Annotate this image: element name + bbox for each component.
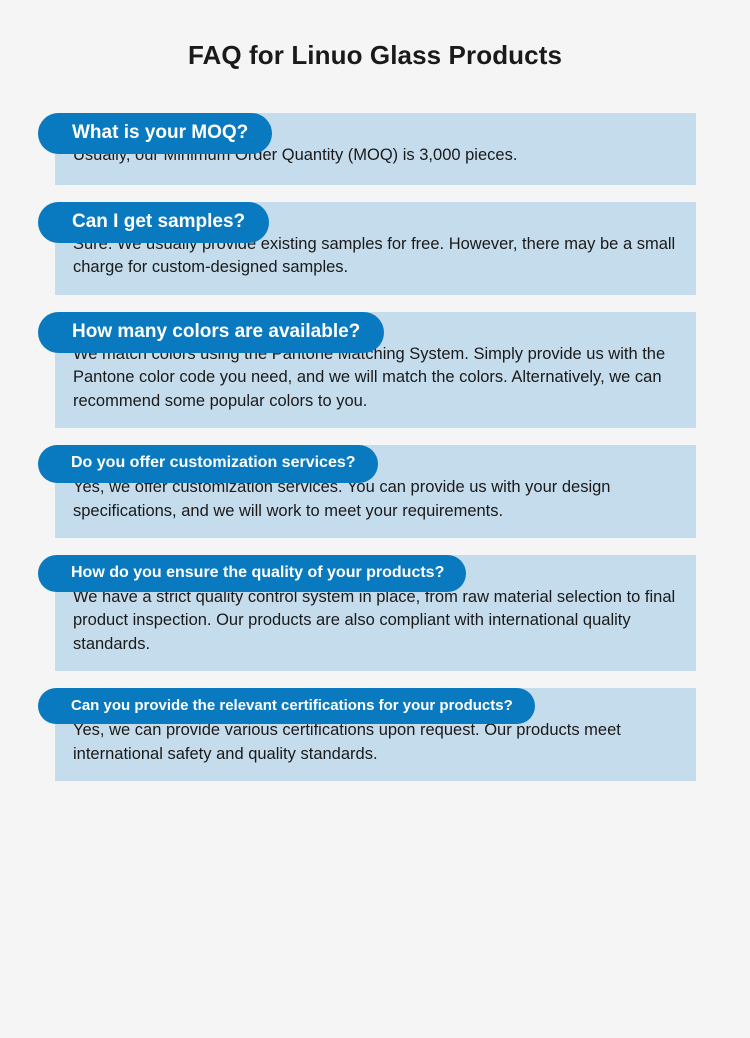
faq-answer-text-4: Yes, we offer customization services. Yo… [73, 476, 678, 523]
faq-answer-text-6: Yes, we can provide various certificatio… [73, 719, 678, 766]
faq-item: How many colors are available? We match … [0, 312, 750, 428]
faq-item: Can I get samples? Sure. We usually prov… [0, 202, 750, 295]
faq-item: Can you provide the relevant certificati… [0, 688, 750, 781]
faq-question-3[interactable]: How many colors are available? [38, 312, 384, 353]
faq-question-1[interactable]: What is your MOQ? [38, 113, 272, 154]
faq-question-4[interactable]: Do you offer customization services? [38, 445, 378, 482]
faq-question-2[interactable]: Can I get samples? [38, 202, 269, 243]
faq-page: FAQ for Linuo Glass Products What is you… [0, 0, 750, 1038]
faq-item: How do you ensure the quality of your pr… [0, 555, 750, 671]
faq-item: Do you offer customization services? Yes… [0, 445, 750, 538]
faq-item: What is your MOQ? Usually, our Minimum O… [0, 113, 750, 185]
faq-answer-text-5: We have a strict quality control system … [73, 586, 678, 656]
faq-question-6[interactable]: Can you provide the relevant certificati… [38, 688, 535, 724]
faq-question-5[interactable]: How do you ensure the quality of your pr… [38, 555, 466, 592]
page-title: FAQ for Linuo Glass Products [0, 40, 750, 71]
faq-answer-text-3: We match colors using the Pantone Matchi… [73, 343, 678, 413]
faq-list: What is your MOQ? Usually, our Minimum O… [0, 113, 750, 798]
